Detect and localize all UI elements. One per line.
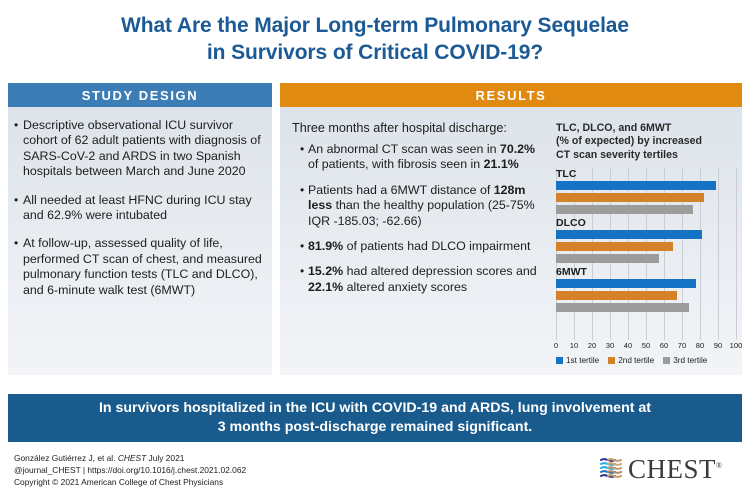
chart-group-label: DLCO <box>556 217 736 230</box>
axis-tick-label: 50 <box>642 341 650 350</box>
chart-bar-1st-tertile <box>556 181 716 190</box>
copyright-line: Copyright © 2021 American College of Che… <box>14 476 246 488</box>
title-line-2: in Survivors of Critical COVID-19? <box>0 39 750 66</box>
page-title: What Are the Major Long-term Pulmonary S… <box>0 12 750 66</box>
chart-group-tlc: TLC <box>556 168 736 214</box>
chart-group-dlco: DLCO <box>556 217 736 263</box>
chart-bar-row <box>556 181 736 190</box>
legend-swatch <box>608 357 615 364</box>
chest-logo: CHEST® <box>598 452 723 483</box>
footer-citation: González Gutiérrez J, et al. CHEST July … <box>14 452 246 489</box>
chart-bar-row <box>556 254 736 263</box>
study-design-item: •All needed at least HFNC during ICU sta… <box>14 193 262 224</box>
axis-tick-label: 10 <box>570 341 578 350</box>
citation-journal: CHEST <box>118 453 146 463</box>
chart-caption-line: CT scan severity tertiles <box>556 149 736 162</box>
conclusion-line-1: In survivors hospitalized in the ICU wit… <box>99 400 651 416</box>
results-item: •An abnormal CT scan was seen in 70.2% o… <box>300 142 548 173</box>
axis-tick-label: 0 <box>554 341 558 350</box>
bullet-icon: • <box>300 239 308 254</box>
bullet-icon: • <box>300 264 308 295</box>
chart-bar-group <box>556 230 736 263</box>
chart-legend: 1st tertile2nd tertile3rd tertile <box>556 356 746 365</box>
study-design-item-text: Descriptive observational ICU survivor c… <box>23 118 262 180</box>
title-line-1: What Are the Major Long-term Pulmonary S… <box>0 12 750 39</box>
legend-label: 2nd tertile <box>618 356 654 365</box>
study-design-item: •At follow-up, assessed quality of life,… <box>14 236 262 298</box>
chart-bar-2nd-tertile <box>556 193 704 202</box>
citation-line: González Gutiérrez J, et al. CHEST July … <box>14 452 246 464</box>
legend-label: 3rd tertile <box>673 356 707 365</box>
results-lead-text: Three months after hospital discharge: <box>292 120 542 136</box>
chart-group-label: 6MWT <box>556 266 736 279</box>
chart-group-6mwt: 6MWT <box>556 266 736 312</box>
chart-x-axis: 0102030405060708090100 <box>556 341 736 353</box>
study-design-item-text: All needed at least HFNC during ICU stay… <box>23 193 262 224</box>
bullet-icon: • <box>14 118 23 180</box>
chart-bar-row <box>556 279 736 288</box>
axis-tick-label: 90 <box>714 341 722 350</box>
citation-authors: González Gutiérrez J, et al. <box>14 453 118 463</box>
legend-swatch <box>663 357 670 364</box>
results-item-text: 81.9% of patients had DLCO impairment <box>308 239 548 254</box>
tertile-bar-chart: TLCDLCO6MWT <box>556 168 736 340</box>
study-design-header: STUDY DESIGN <box>8 83 272 107</box>
legend-item-1st-tertile: 1st tertile <box>556 356 599 365</box>
chart-caption-line: TLC, DLCO, and 6MWT <box>556 122 736 135</box>
chart-bar-group <box>556 181 736 214</box>
chart-bar-2nd-tertile <box>556 291 677 300</box>
chart-bar-row <box>556 303 736 312</box>
bullet-icon: • <box>14 236 23 298</box>
results-item: •81.9% of patients had DLCO impairment <box>300 239 548 254</box>
legend-swatch <box>556 357 563 364</box>
chart-bar-3rd-tertile <box>556 205 693 214</box>
registered-mark: ® <box>716 461 723 470</box>
results-item: •Patients had a 6MWT distance of 128m le… <box>300 183 548 229</box>
chart-bar-row <box>556 230 736 239</box>
bullet-icon: • <box>300 183 308 229</box>
chart-bar-row <box>556 291 736 300</box>
chart-bar-1st-tertile <box>556 230 702 239</box>
legend-label: 1st tertile <box>566 356 599 365</box>
legend-item-2nd-tertile: 2nd tertile <box>608 356 654 365</box>
axis-tick-label: 40 <box>624 341 632 350</box>
study-design-item-text: At follow-up, assessed quality of life, … <box>23 236 262 298</box>
conclusion-line-2: 3 months post-discharge remained signifi… <box>218 419 533 435</box>
chart-bar-2nd-tertile <box>556 242 673 251</box>
chart-group-label: TLC <box>556 168 736 181</box>
study-design-item: •Descriptive observational ICU survivor … <box>14 118 262 180</box>
chart-bar-1st-tertile <box>556 279 696 288</box>
bullet-icon: • <box>14 193 23 224</box>
axis-tick-label: 60 <box>660 341 668 350</box>
chart-bar-row <box>556 193 736 202</box>
results-item-text: Patients had a 6MWT distance of 128m les… <box>308 183 548 229</box>
results-item: •15.2% had altered depression scores and… <box>300 264 548 295</box>
chart-bar-row <box>556 242 736 251</box>
results-header: RESULTS <box>280 83 742 107</box>
axis-tick-label: 30 <box>606 341 614 350</box>
axis-tick-label: 100 <box>730 341 743 350</box>
doi-line[interactable]: @journal_CHEST | https://doi.org/10.1016… <box>14 464 246 476</box>
citation-date: July 2021 <box>146 453 184 463</box>
chart-bar-3rd-tertile <box>556 303 689 312</box>
study-design-list: •Descriptive observational ICU survivor … <box>14 118 262 311</box>
results-list: •An abnormal CT scan was seen in 70.2% o… <box>300 142 548 305</box>
chart-caption-line: (% of expected) by increased <box>556 135 736 148</box>
chest-logo-mark-icon <box>598 455 624 481</box>
infographic-poster: What Are the Major Long-term Pulmonary S… <box>0 0 750 499</box>
results-item-text: 15.2% had altered depression scores and … <box>308 264 548 295</box>
chart-bar-row <box>556 205 736 214</box>
axis-tick-label: 70 <box>678 341 686 350</box>
bullet-icon: • <box>300 142 308 173</box>
chart-bar-3rd-tertile <box>556 254 659 263</box>
legend-item-3rd-tertile: 3rd tertile <box>663 356 707 365</box>
results-item-text: An abnormal CT scan was seen in 70.2% of… <box>308 142 548 173</box>
chest-logo-wordmark: CHEST® <box>628 452 723 483</box>
chart-caption: TLC, DLCO, and 6MWT(% of expected) by in… <box>556 122 736 162</box>
chart-bar-group <box>556 279 736 312</box>
conclusion-banner: In survivors hospitalized in the ICU wit… <box>8 394 742 442</box>
axis-tick-label: 20 <box>588 341 596 350</box>
axis-tick-label: 80 <box>696 341 704 350</box>
